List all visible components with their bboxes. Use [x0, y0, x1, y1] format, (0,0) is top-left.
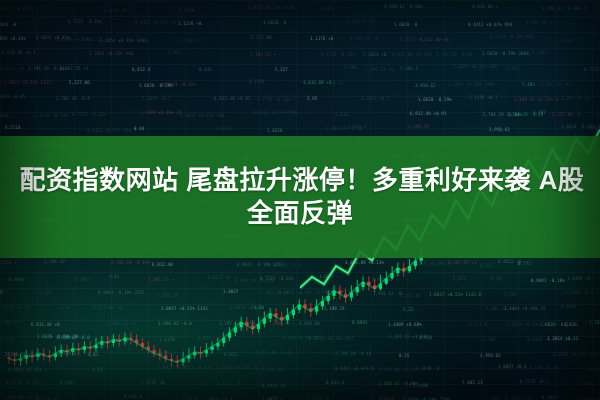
ticker-text: 3,950.62 - [415, 83, 441, 88]
ticker-text: 1.0037 +0.52% 1142 [4, 80, 51, 85]
ticker-text: 1.1176 +0. [178, 21, 204, 26]
ticker-text: 2,198. [343, 65, 359, 70]
ticker-text: 2,198.74 +0. [365, 67, 396, 72]
ticker-text: 3,950.62 [480, 353, 501, 358]
ticker-text: 0.9841 -0.1 [578, 381, 600, 386]
ticker-text: 0.8893 +0.45% [162, 82, 196, 87]
ticker-text: 3,287 [506, 66, 519, 71]
ticker-text: 6,812. [217, 126, 233, 131]
ticker-text: 1.2854 +0.32% [589, 320, 600, 325]
ticker-text: 1.1176 +0 [310, 36, 333, 41]
ticker-text: 0.8893 +0.45 [0, 94, 25, 99]
ticker-text: 0.7725 [584, 67, 600, 72]
ticker-text: 0.4412 +0.07% 99 [135, 20, 177, 25]
ticker-text: 1.6620 - [379, 396, 400, 400]
ticker-text: 7,405.1 [320, 6, 338, 11]
ticker-text: 1.2854 +0.32 [547, 336, 578, 341]
ticker-text: 2,198.74 +0 [529, 365, 558, 370]
ticker-text: 5,227.06 [251, 35, 272, 40]
ticker-text: 1.4409 +0.68% 25 [140, 110, 182, 115]
ticker-text: 1.2854 +0.32% 3408 [448, 82, 495, 87]
ticker-text: 7,405.13 [462, 380, 483, 385]
ticker-text: 4,016.88 +0.1 [2, 50, 36, 55]
ticker-text: 0.5518 +0.1 [520, 379, 549, 384]
ticker-text: 1.6620 -0.5 [103, 8, 132, 13]
ticker-text: 2,198. [532, 50, 548, 55]
ticker-text: 1.2854 +0.32% 340 [89, 51, 133, 56]
ticker-text: 3,950.62 -0.08% C [542, 6, 586, 11]
ticker-text: 1.6620 [267, 128, 283, 133]
ticker-text: 1.2854 +0.3 [142, 96, 171, 101]
ticker-text: 0.4412 +0.07% 998. [253, 110, 300, 115]
ticker-text: 1.6620 -0 [263, 20, 286, 25]
ticker-text: 1.1176 +0.7 [469, 95, 498, 100]
ticker-text: 4,016. [564, 322, 580, 327]
ticker-text: 4,016.88 +0 [303, 80, 332, 85]
headline-band: 配资指数网站 尾盘拉升涨停！多重利好来袭 A股 全面反弹 [0, 136, 600, 258]
ticker-text: 1.1176 +0 [306, 396, 329, 400]
ticker-text: 6,812.4 [132, 67, 150, 72]
ticker-text: 7,405.13 + [250, 52, 276, 57]
ticker-text: 2,704.19 -0. [540, 82, 571, 87]
ticker-text: 1.0037 +0.5 [498, 364, 527, 369]
ticker-text: 0.5518 +0.1 [588, 367, 600, 372]
ticker-text: 0.5518 + [400, 37, 421, 42]
banner-image: 1.2854 +0.7725 1.6620 -0.51.1176 1.0037 … [0, 0, 600, 400]
ticker-text: 7,405.13 [81, 37, 102, 42]
ticker-text: 5,227. [275, 67, 291, 72]
ticker-text: 0.441 [199, 67, 212, 72]
ticker-text: 1.6620 -0.59% 3064. [482, 51, 532, 56]
headline-line-2: 全面反弹 [247, 197, 353, 230]
ticker-text: 1.1176 [179, 8, 195, 13]
ticker-text: 3,95 [307, 96, 317, 101]
ticker-text: 4,016.88 + [472, 4, 498, 9]
ticker-text: 0.8893 +0.45% [0, 36, 26, 41]
ticker-text: 6,812.40 +0.91 [214, 96, 251, 101]
ticker-text: 7,405.1 [400, 66, 418, 71]
ticker-text: 0.4412 +0.07% 998 [468, 22, 512, 27]
ticker-text: 0.7725 -0.26% 7 [257, 97, 296, 102]
ticker-text: 2,704.19 -0.4 [56, 96, 90, 101]
ticker-text: 1.6620 -0.59% [418, 97, 452, 102]
ticker-text: 0.4412 +0.07% 998.2 [87, 128, 137, 133]
ticker-text: 2,198.74 +0 [350, 36, 379, 41]
ticker-text: 0.44 [134, 126, 144, 131]
ticker-text: 2,198.74 +0.22% H [514, 97, 558, 102]
ticker-text: 4,01 [562, 38, 572, 43]
ticker-text: 0.7725 [17, 6, 33, 11]
ticker-text: 1.0037 +0.52% 1142. [247, 5, 297, 10]
ticker-text: 4,016.88 +0.13 [3, 395, 40, 400]
ticker-text: 1.0037 +0.5 [361, 96, 390, 101]
ticker-text: 1.6620 [182, 396, 198, 400]
ticker-text: 6,812.40 + [526, 20, 552, 25]
ticker-text: 5,227.0 [469, 322, 487, 327]
ticker-text: 3,287.55 +1 [561, 96, 590, 101]
ticker-text: 1.4409 +0.68% 2580 [485, 396, 532, 400]
ticker-text: 4,016.8 [124, 394, 142, 399]
ticker-text: 5,227.06 [69, 80, 90, 85]
ticker-text: 1.2854 + [0, 6, 16, 11]
ticker-text: 4,016.88 +0.13% [392, 52, 431, 57]
ticker-text: 0.4412 +0 [1, 66, 24, 71]
ticker-text: 6,812.40 +0. [420, 37, 451, 42]
ticker-text: 1.2854 +0.32% 340 [180, 113, 224, 118]
ticker-text: 7,405. [167, 50, 183, 55]
ticker-text: 0.7725 -0.26% [321, 52, 355, 57]
ticker-text: 0.5518 +0.16% 644 [490, 34, 534, 39]
ticker-text: 1.2854 +0.32% 340 [453, 64, 497, 69]
ticker-text: 0.9841 - [542, 395, 563, 400]
ticker-text: 2,704.19 -0.44 [436, 52, 473, 57]
ticker-text: 3,287.55 +1 [60, 66, 89, 71]
headline-line-1: 配资指数网站 尾盘拉升涨停！多重利好来袭 A股 [16, 164, 585, 197]
ticker-text: 2,198.74 +0 [346, 19, 375, 24]
ticker-text: 1.0037 +0.52% 114 [553, 352, 597, 357]
ticker-text: 1.2854 +0.32% 3408. [100, 38, 150, 43]
ticker-text: 0.7725 -0.26% [68, 19, 102, 24]
ticker-text: 1.1176 +0.74% [34, 113, 68, 118]
ticker-text: 7,405 [522, 82, 535, 87]
ticker-text: 3,287 [483, 337, 496, 342]
ticker-text: 6,812. [0, 113, 11, 118]
ticker-text: 0.7725 -0.26% [72, 112, 106, 117]
ticker-text: 0.9841 -0 [0, 22, 16, 27]
ticker-text: 2,704.19 - [180, 38, 206, 43]
ticker-text: 3,950.62 -0.08% [384, 4, 423, 9]
ticker-text: 1.1176 [249, 79, 265, 84]
ticker-text: 0.55 [333, 81, 343, 86]
ticker-text: 0.5518 [5, 125, 21, 130]
ticker-text: 1.2854 +0. [363, 52, 389, 57]
ticker-text: 1.6620 -0 [394, 22, 417, 27]
